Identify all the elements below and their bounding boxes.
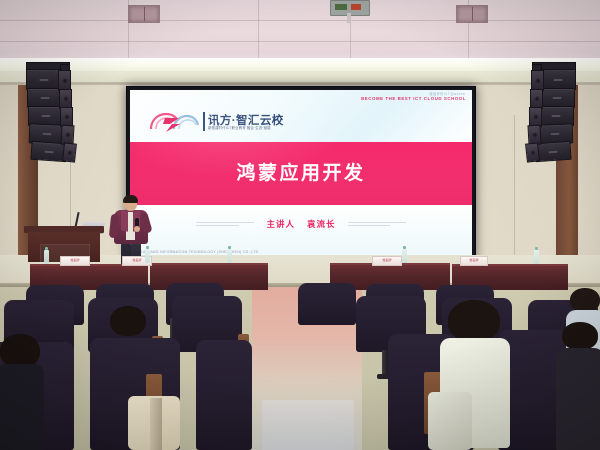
audience-member-left-front bbox=[0, 334, 46, 450]
water-bottle bbox=[44, 250, 49, 264]
slide-tagline-en: BECOME THE BEST ICT CLOUD SCHOOL bbox=[361, 96, 466, 101]
ceiling bbox=[0, 0, 600, 60]
item-stripe bbox=[150, 398, 162, 450]
audience-member-right-edge bbox=[556, 322, 600, 450]
presenter-row: 主讲人 袁流长 bbox=[130, 217, 472, 231]
slide-title-band: 鸿蒙应用开发 bbox=[130, 142, 472, 205]
line-array-speaker-right bbox=[518, 62, 578, 172]
brand-logo: 讯方·智汇云校 新基建时代ICT职业教育 融合·生态·赋能 bbox=[148, 110, 298, 136]
ceiling-light-cove bbox=[0, 58, 600, 72]
water-bottle bbox=[402, 249, 407, 263]
slide-footer-area: 主讲人 袁流长 XUNFANG INFORMATION TECHNOLOGY (… bbox=[130, 205, 472, 258]
name-card: 姓名牌 bbox=[60, 256, 90, 266]
line-array-speaker-left bbox=[24, 62, 84, 172]
projector-mount bbox=[347, 13, 351, 23]
projection-screen: 做最好的ICT云школа BECOME THE BEST ICT CLOUD … bbox=[126, 86, 476, 262]
presenter-name: 袁流长 bbox=[307, 218, 336, 230]
water-bottle bbox=[145, 249, 150, 263]
slide-title: 鸿蒙应用开发 bbox=[130, 158, 472, 185]
item-on-seat-right bbox=[428, 392, 472, 450]
lecture-hall-photo: 做最好的ICT云школа BECOME THE BEST ICT CLOUD … bbox=[0, 0, 600, 450]
seat-row1-d bbox=[298, 283, 356, 325]
slide-company-footer: XUNFANG INFORMATION TECHNOLOGY (SHENZHEN… bbox=[140, 250, 258, 254]
logo-divider bbox=[203, 112, 205, 131]
ceiling-vent-left bbox=[128, 5, 160, 23]
logo-subtitle: 新基建时代ICT职业教育 融合·生态·赋能 bbox=[208, 125, 271, 130]
cloud-swoosh-icon bbox=[148, 111, 200, 133]
water-bottle bbox=[534, 250, 539, 264]
name-card: 姓名牌 bbox=[372, 256, 402, 266]
rule-left bbox=[196, 222, 254, 227]
ceiling-vent-right bbox=[456, 5, 488, 23]
water-bottle bbox=[227, 249, 232, 263]
slide-header-area: 做最好的ICT云школа BECOME THE BEST ICT CLOUD … bbox=[130, 90, 472, 142]
presenter-label: 主讲人 bbox=[266, 218, 295, 230]
center-aisle-near bbox=[262, 400, 354, 450]
rule-right bbox=[348, 222, 406, 227]
presentation-slide: 做最好的ICT云школа BECOME THE BEST ICT CLOUD … bbox=[130, 90, 472, 258]
seat-row3-c bbox=[196, 340, 252, 450]
name-card: 姓名牌 bbox=[460, 256, 488, 266]
